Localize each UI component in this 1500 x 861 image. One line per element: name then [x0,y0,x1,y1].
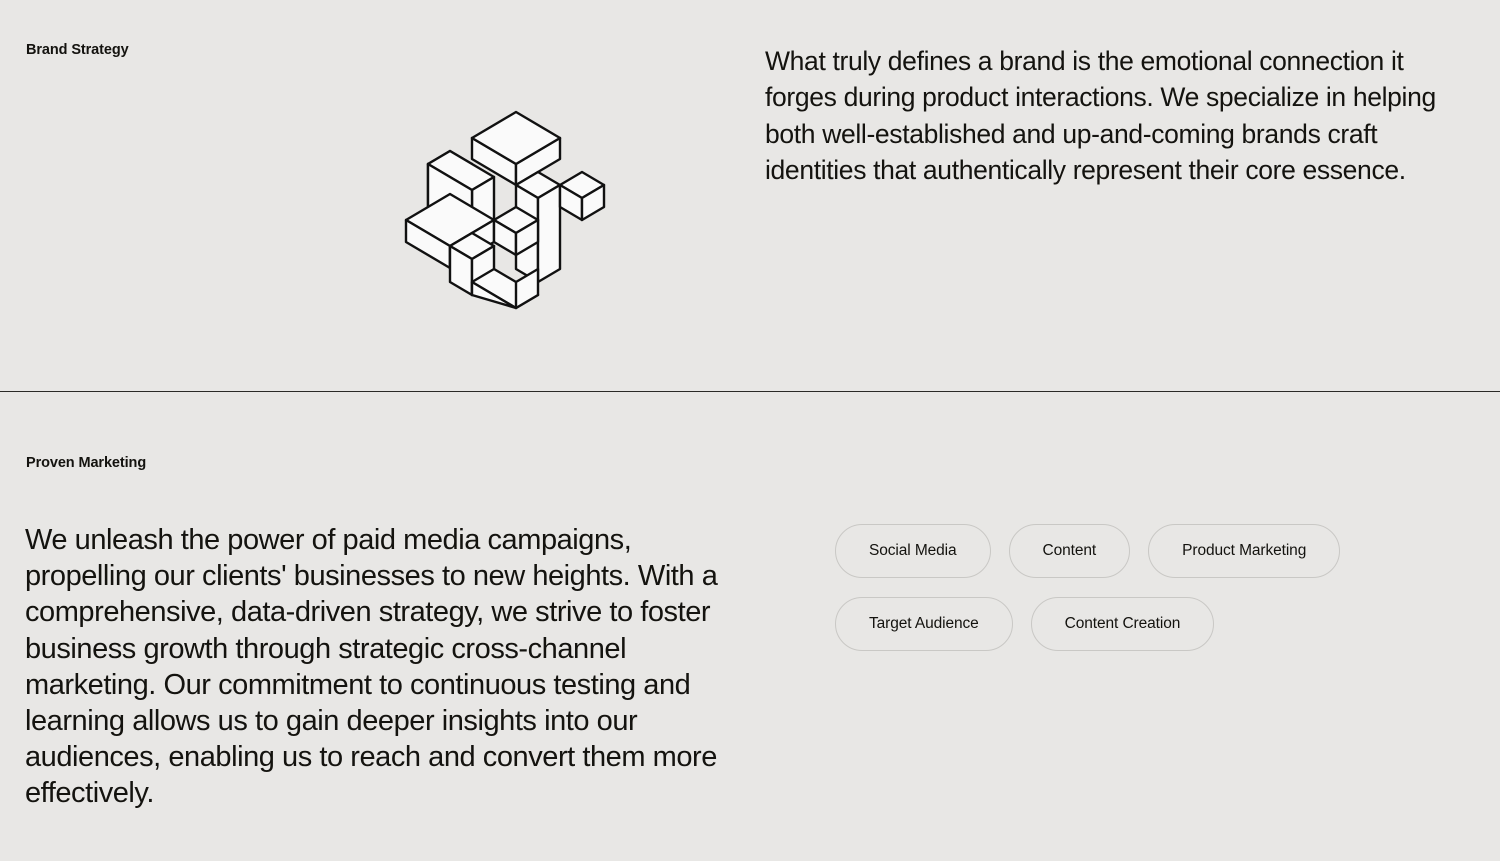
marketing-tag-list: Social Media Content Product Marketing T… [835,524,1395,651]
proven-marketing-paragraph: We unleash the power of paid media campa… [25,522,747,812]
tag-pill-content-creation[interactable]: Content Creation [1031,597,1215,651]
section-label-proven-marketing: Proven Marketing [26,455,146,472]
section-proven-marketing: Proven Marketing We unleash the power of… [0,392,1500,861]
section-label-brand-strategy: Brand Strategy [26,42,129,59]
tag-pill-product-marketing[interactable]: Product Marketing [1148,524,1340,578]
isometric-knot-icon [398,110,613,310]
tag-pill-social-media[interactable]: Social Media [835,524,991,578]
tag-pill-content[interactable]: Content [1009,524,1131,578]
section-brand-strategy: Brand Strategy [0,0,1500,392]
brand-strategy-paragraph: What truly defines a brand is the emotio… [765,43,1477,188]
tag-pill-target-audience[interactable]: Target Audience [835,597,1013,651]
page-root: Brand Strategy [0,0,1500,861]
